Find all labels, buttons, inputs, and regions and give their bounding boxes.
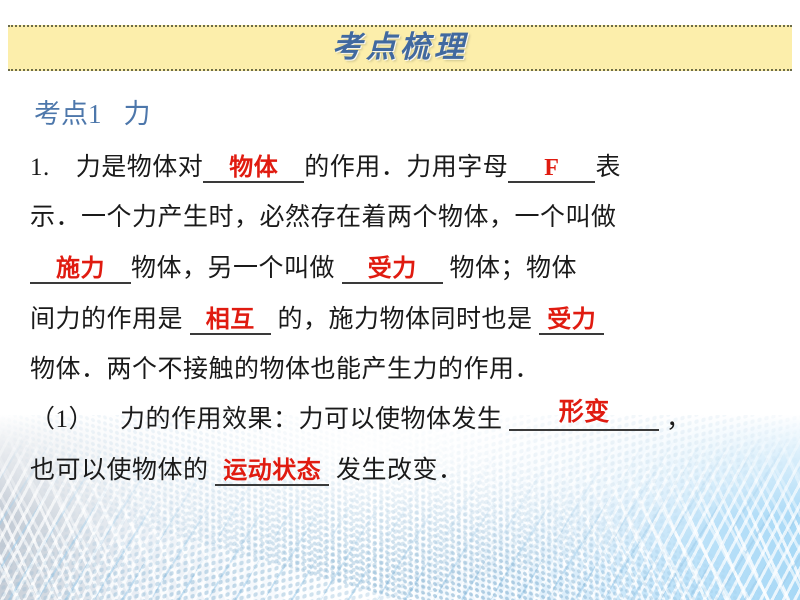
line1-part4: 表 (595, 154, 621, 181)
answer-line3-1: 施力 (30, 254, 131, 284)
line3-part2: 物体；物体 (450, 255, 578, 282)
answer-line1-1: 物体 (203, 153, 304, 183)
text-line-1: 1.力是物体对物体的作用．力用字母F表 (30, 142, 770, 193)
text-line-5: 物体．两个不接触的物体也能产生力的作用． (30, 345, 770, 395)
line7-part1: 也可以使物体的 (30, 457, 209, 484)
answer-line1-2: F (508, 155, 595, 183)
answer-line3-2: 受力 (342, 254, 443, 284)
section-topic: 力 (124, 99, 151, 129)
line1-part1: 力是物体对 (76, 154, 204, 181)
title-banner: 考点梳理 (8, 25, 792, 71)
section-label: 考点1 (34, 99, 102, 129)
answer-line6-1-blank: 形变 (509, 403, 659, 431)
line5-text: 物体．两个不接触的物体也能产生力的作用． (30, 356, 540, 383)
line1-part2: 的作用． (304, 154, 406, 181)
line3-part1: 物体，另一个叫做 (131, 255, 335, 282)
answer-line4-1: 相互 (190, 305, 271, 335)
line6-marker: （1） (30, 406, 94, 433)
banner-title: 考点梳理 (332, 33, 468, 63)
text-line-7: 也可以使物体的 运动状态 发生改变． (30, 445, 770, 496)
line4-part2: 的，施力物体同时也是 (278, 306, 533, 333)
line6-part2: ， (666, 406, 692, 433)
text-line-6: （1）力的作用效果：力可以使物体发生 形变 ， (30, 395, 770, 445)
text-line-2: 示．一个力产生时，必然存在着两个物体，一个叫做 (30, 193, 770, 243)
text-line-4: 间力的作用是 相互 的，施力物体同时也是 受力 (30, 294, 770, 345)
line2-text: 示．一个力产生时，必然存在着两个物体，一个叫做 (30, 204, 617, 231)
line7-part2: 发生改变． (336, 457, 464, 484)
text-line-3: 施力物体，另一个叫做 受力 物体；物体 (30, 243, 770, 294)
slide-content: 考点1力 1.力是物体对物体的作用．力用字母F表 示．一个力产生时，必然存在着两… (0, 100, 800, 496)
line1-part3: 力用字母 (406, 154, 508, 181)
line6-part1: 力的作用效果：力可以使物体发生 (120, 406, 503, 433)
section-heading: 考点1力 (34, 100, 770, 130)
item-number: 1. (30, 154, 50, 181)
answer-line4-2: 受力 (539, 305, 604, 335)
answer-line7-1: 运动状态 (215, 456, 329, 486)
line4-part1: 间力的作用是 (30, 306, 183, 333)
answer-line6-1: 形变 (509, 399, 659, 424)
